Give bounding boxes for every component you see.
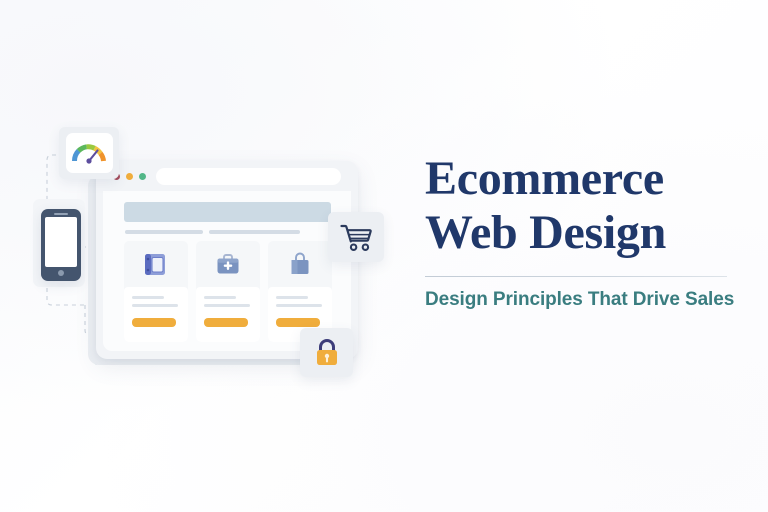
security-lock-tile[interactable] (300, 328, 353, 377)
page-canvas: Ecommerce Web Design Design Principles T… (0, 0, 768, 512)
shopping-cart-tile[interactable] (328, 212, 384, 262)
product-card[interactable] (124, 241, 188, 342)
page-subtitle: Design Principles That Drive Sales (425, 289, 735, 311)
minimize-dot-icon[interactable] (126, 173, 133, 180)
placeholder-text-line (125, 230, 203, 234)
product-card-body (196, 287, 260, 342)
phone-speaker (54, 213, 68, 215)
shopping-bag-icon (268, 241, 332, 288)
add-to-cart-button[interactable] (204, 318, 248, 327)
product-card-body (124, 287, 188, 342)
browser-titlebar (96, 161, 358, 191)
smartphone-icon[interactable] (41, 209, 81, 281)
speed-gauge-icon (66, 133, 113, 173)
title-divider (425, 276, 727, 277)
product-card[interactable] (268, 241, 332, 342)
hero-banner (124, 202, 331, 222)
maximize-dot-icon[interactable] (139, 173, 146, 180)
medical-bag-icon (196, 241, 260, 288)
ecommerce-illustration (0, 0, 400, 512)
product-card[interactable] (196, 241, 260, 342)
browser-viewport (103, 191, 351, 351)
add-to-cart-button[interactable] (276, 318, 320, 327)
title-line-1: Ecommerce (425, 152, 664, 205)
phone-home-button[interactable] (58, 270, 64, 276)
performance-gauge-tile[interactable] (59, 127, 119, 179)
card-text-line (132, 304, 178, 307)
card-text-line (276, 296, 308, 299)
card-text-line (276, 304, 322, 307)
title-line-2: Web Design (425, 206, 735, 260)
card-text-line (204, 304, 250, 307)
card-text-line (132, 296, 164, 299)
add-to-cart-button[interactable] (132, 318, 176, 327)
card-text-line (204, 296, 236, 299)
padlock-icon (313, 337, 341, 369)
phone-screen (45, 217, 77, 267)
placeholder-text-line (209, 230, 300, 234)
hero-text-block: Ecommerce Web Design Design Principles T… (425, 152, 735, 311)
product-card-grid (124, 241, 332, 342)
book-tablet-icon (124, 241, 188, 288)
browser-url-bar[interactable] (156, 168, 341, 185)
page-title: Ecommerce Web Design (425, 152, 735, 260)
shopping-cart-icon (339, 222, 373, 252)
